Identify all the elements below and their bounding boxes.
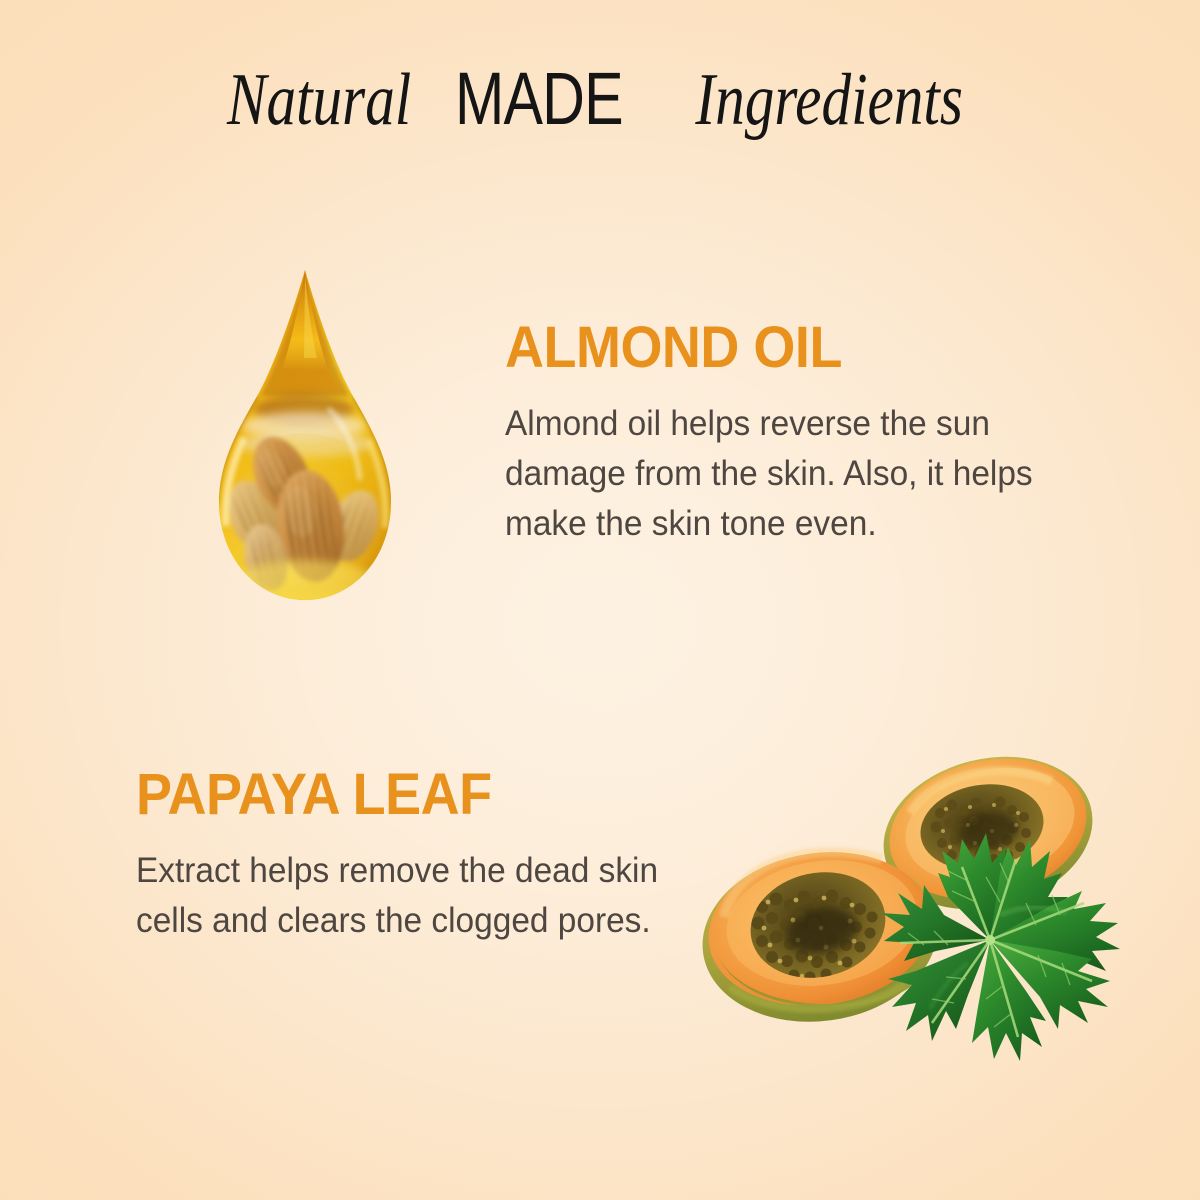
ingredient-title-almond-oil: ALMOND OIL	[505, 318, 1072, 377]
papaya-halves-with-leaf-image	[700, 755, 1160, 1085]
ingredient-title-papaya-leaf: PAPAYA LEAF	[136, 765, 713, 824]
page-title-spacer	[645, 63, 660, 137]
ingredient-description-papaya-leaf: Extract helps remove the dead skin cells…	[136, 846, 728, 945]
page-title-part-ingredients: Ingredients	[696, 63, 963, 137]
almond-oil-text-block: ALMOND OIL Almond oil helps reverse the …	[505, 318, 1115, 548]
page-title: NaturalMADE Ingredients	[0, 62, 1200, 137]
ingredient-description-almond-oil: Almond oil helps reverse the sun damage …	[505, 399, 1088, 548]
ingredients-infographic-page: NaturalMADE Ingredients	[0, 0, 1200, 1200]
oil-drop-body	[206, 270, 404, 623]
oil-drop-with-almonds-image	[178, 258, 433, 638]
ingredient-section-papaya-leaf: PAPAYA LEAF Extract helps remove the dea…	[0, 745, 1200, 1125]
page-title-part-made: MADE	[455, 62, 623, 136]
page-title-part-natural: Natural	[227, 63, 411, 137]
page-title-line: NaturalMADE Ingredients	[204, 57, 997, 140]
ingredient-section-almond-oil: ALMOND OIL Almond oil helps reverse the …	[0, 250, 1200, 670]
papaya-leaf-text-block: PAPAYA LEAF Extract helps remove the dea…	[136, 765, 756, 946]
